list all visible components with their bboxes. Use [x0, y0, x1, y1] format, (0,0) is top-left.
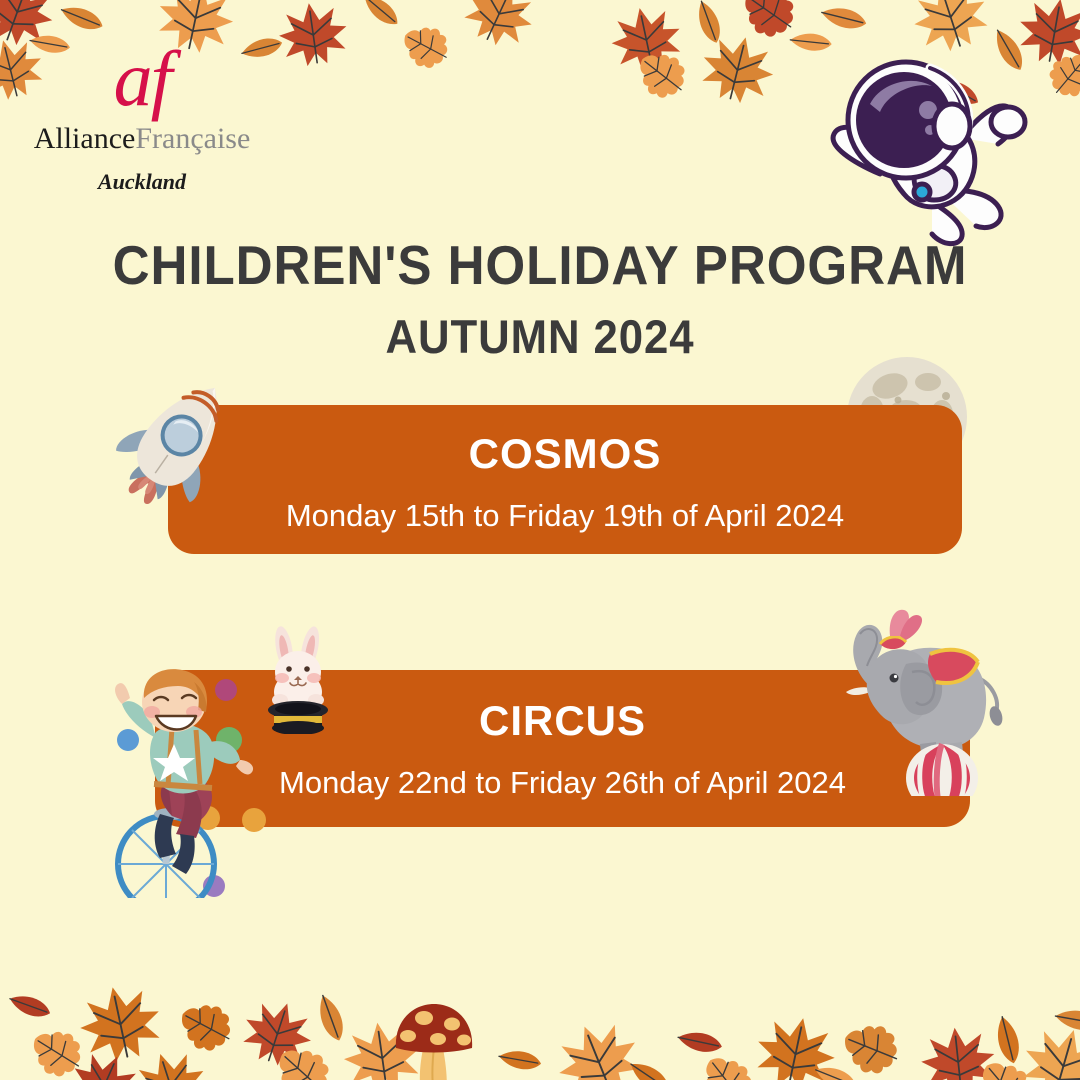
logo-city: Auckland [12, 169, 272, 195]
program-title-circus: CIRCUS [479, 697, 646, 745]
astronaut-icon [812, 42, 1052, 257]
program-title-cosmos: COSMOS [469, 430, 662, 478]
poster-canvas: af AllianceFrançaise Auckland [0, 0, 1080, 1080]
alliance-francaise-logo: af AllianceFrançaise Auckland [12, 42, 272, 195]
logo-wordmark-francaise: Française [135, 122, 250, 155]
logo-monogram: af [12, 42, 272, 116]
mushroom-icon [396, 1004, 472, 1080]
logo-wordmark: AllianceFrançaise [12, 122, 272, 155]
page-subtitle: AUTUMN 2024 [38, 309, 1042, 364]
program-banner-circus[interactable]: CIRCUS Monday 22nd to Friday 26th of Apr… [155, 670, 970, 827]
program-banner-cosmos[interactable]: COSMOS Monday 15th to Friday 19th of Apr… [168, 405, 962, 554]
program-dates-circus: Monday 22nd to Friday 26th of April 2024 [279, 765, 846, 801]
logo-wordmark-alliance: Alliance [34, 122, 136, 155]
page-title-block: CHILDREN'S HOLIDAY PROGRAM AUTUMN 2024 [0, 233, 1080, 364]
program-dates-cosmos: Monday 15th to Friday 19th of April 2024 [286, 498, 844, 534]
autumn-leaves-border-bottom [0, 960, 1080, 1080]
page-title: CHILDREN'S HOLIDAY PROGRAM [38, 233, 1042, 297]
